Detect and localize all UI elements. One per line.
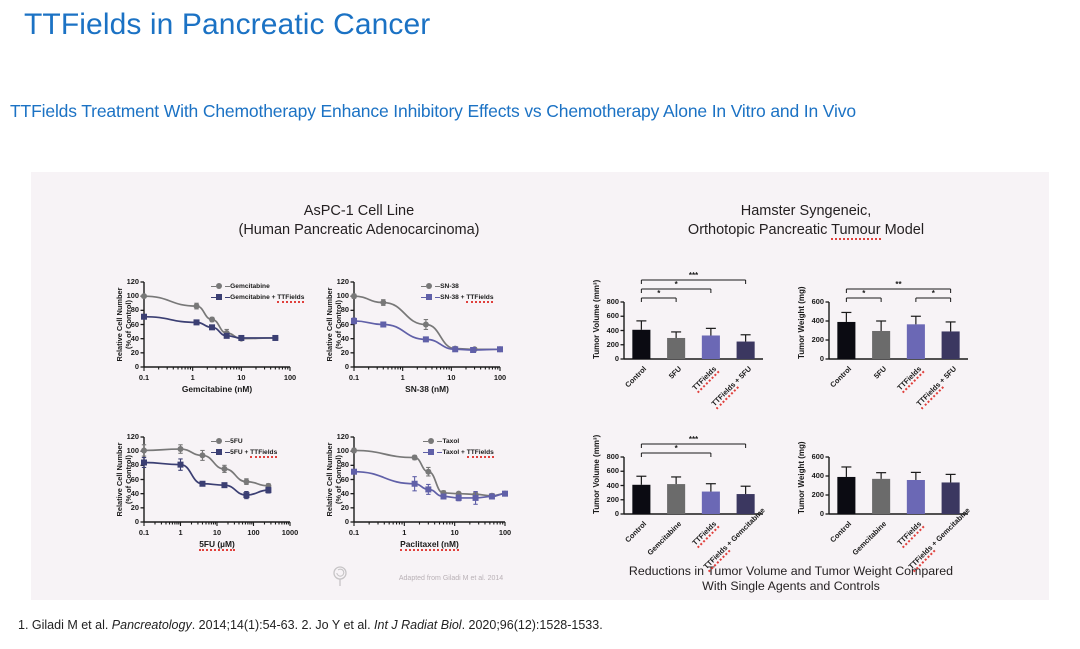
- x-tick-label: 10: [224, 373, 258, 382]
- x-axis-label: Paclitaxel (nM): [354, 539, 505, 549]
- chart-tumor-weight-gemcitabine: 0200400600Tumor Weight (mg)ControlGemcit…: [791, 427, 976, 552]
- slide-subtitle: TTFields Treatment With Chemotherapy Enh…: [10, 101, 856, 122]
- legend-item: Gemcitabine + TTFields: [211, 294, 304, 301]
- left-panel-heading-line1: AsPC-1 Cell Line: [179, 202, 539, 221]
- x-tick-label: 0.1: [337, 373, 371, 382]
- x-tick-label: 100: [273, 373, 307, 382]
- x-tick-label: 100: [483, 373, 517, 382]
- y-axis-label: Relative Cell Number(% of Control): [115, 282, 133, 367]
- x-axis-label-text: 5FU (µM): [199, 539, 235, 551]
- left-panel-heading: AsPC-1 Cell Line (Human Pancreatic Adeno…: [179, 202, 539, 240]
- y-axis-label-line1: Relative Cell Number: [115, 437, 124, 522]
- x-tick-label: 100: [237, 528, 271, 537]
- chart-tumor-weight-5fu: 0200400600****Tumor Weight (mg)Control5F…: [791, 272, 976, 397]
- legend-item: 5FU + TTFields: [211, 449, 277, 456]
- right-panel-heading-line1: Hamster Syngeneic,: [596, 202, 1016, 221]
- y-axis-label: Tumor Volume (mm³): [592, 302, 601, 359]
- references-footer: 1. Giladi M et al. Pancreatology. 2014;1…: [18, 618, 603, 632]
- significance-marker: *: [645, 289, 673, 298]
- chart-5fu-dose-response: 0204060801001200.11101001000Relative Cel…: [106, 427, 296, 552]
- significance-marker: ***: [680, 435, 708, 444]
- legend-square-marker: [216, 294, 222, 300]
- reference-suffix: . 2020;96(12):1528-1533.: [462, 618, 603, 632]
- spellcheck-tumour: Tumour: [831, 222, 880, 240]
- x-tick-label: 1: [164, 528, 198, 537]
- y-axis-label-line2: (% of Control): [334, 282, 343, 367]
- legend-item: SN-38: [421, 283, 459, 290]
- reference-mid: . 2014;14(1):54-63. 2. Jo Y et al.: [192, 618, 374, 632]
- reference-journal-1: Pancreatology: [112, 618, 192, 632]
- x-tick-label: 1: [176, 373, 210, 382]
- significance-marker: *: [662, 444, 690, 453]
- page-title: TTFields in Pancreatic Cancer: [24, 8, 430, 42]
- x-tick-label: 100: [488, 528, 522, 537]
- right-panel-heading: Hamster Syngeneic, Orthotopic Pancreatic…: [596, 202, 1016, 240]
- legend-circle-marker: [426, 283, 432, 289]
- legend-label: Gemcitabine: [230, 283, 270, 290]
- spellcheck-ttfields: TTFields: [466, 294, 493, 303]
- spellcheck-ttfields: TTFields: [467, 449, 494, 458]
- x-axis-label: Gemcitabine (nM): [144, 384, 290, 394]
- legend-item: Gemcitabine: [211, 283, 270, 290]
- x-axis-label-text: Paclitaxel (nM): [400, 539, 459, 551]
- chart-tumor-volume-5fu: 0200400600800*****Tumor Volume (mm³)Cont…: [586, 272, 771, 397]
- spellcheck-ttfields: TTFields: [277, 294, 304, 303]
- y-axis-label-line1: Relative Cell Number: [325, 282, 334, 367]
- x-tick-label: 0.1: [127, 528, 161, 537]
- spellcheck-ttfields: TTFields: [250, 449, 277, 458]
- slide: TTFields in Pancreatic Cancer TTFields T…: [0, 0, 1080, 649]
- left-panel-heading-line2: (Human Pancreatic Adenocarcinoma): [179, 221, 539, 240]
- legend-square-marker: [216, 449, 222, 455]
- significance-marker: **: [885, 280, 913, 289]
- x-tick-label: 10: [200, 528, 234, 537]
- chart-sn38-dose-response: 0204060801001200.1110100Relative Cell Nu…: [316, 272, 506, 397]
- legend-circle-marker: [216, 438, 222, 444]
- x-tick-label: 1000: [273, 528, 307, 537]
- y-axis-label: Relative Cell Number(% of Control): [325, 437, 343, 522]
- chart-taxol-dose-response: 0204060801001200.1110100Relative Cell Nu…: [316, 427, 511, 552]
- x-tick-label: 10: [434, 373, 468, 382]
- significance-marker: *: [662, 280, 690, 289]
- figure-panel: AsPC-1 Cell Line (Human Pancreatic Adeno…: [31, 172, 1049, 600]
- x-tick-label: 0.1: [127, 373, 161, 382]
- legend-label: SN-38: [440, 283, 459, 290]
- y-axis-label-line1: Relative Cell Number: [115, 282, 124, 367]
- reference-journal-2: Int J Radiat Biol: [374, 618, 462, 632]
- legend-square-marker: [426, 294, 432, 300]
- y-axis-label: Relative Cell Number(% of Control): [115, 437, 133, 522]
- significance-marker: *: [850, 289, 878, 298]
- y-axis-label-line2: (% of Control): [124, 282, 133, 367]
- legend-item: Taxol: [423, 438, 459, 445]
- chart-gemcitabine-dose-response: 0204060801001200.1110100Relative Cell Nu…: [106, 272, 296, 397]
- y-axis-label-line1: Relative Cell Number: [325, 437, 334, 522]
- y-axis-label: Tumor Weight (mg): [797, 457, 806, 514]
- legend-item: SN-38 + TTFields: [421, 294, 493, 301]
- reference-prefix: 1. Giladi M et al.: [18, 618, 112, 632]
- legend-item: 5FU: [211, 438, 242, 445]
- x-tick-label: 0.1: [337, 528, 371, 537]
- y-axis-label-line2: (% of Control): [124, 437, 133, 522]
- significance-marker: *: [919, 289, 947, 298]
- x-axis-label: SN-38 (nM): [354, 384, 500, 394]
- x-tick-label: 1: [387, 528, 421, 537]
- x-tick-label: 10: [438, 528, 472, 537]
- legend-circle-marker: [428, 438, 434, 444]
- significance-marker: ***: [680, 271, 708, 280]
- x-axis-label: 5FU (µM): [144, 539, 290, 549]
- adapted-from-note: Adapted from Giladi M et al. 2014: [331, 575, 571, 582]
- legend-label: Taxol: [442, 438, 459, 445]
- legend-label: 5FU: [230, 438, 242, 445]
- y-axis-label-line2: (% of Control): [334, 437, 343, 522]
- x-tick-label: 1: [386, 373, 420, 382]
- legend-item: Taxol + TTFields: [423, 449, 493, 456]
- y-axis-label: Tumor Volume (mm³): [592, 457, 601, 514]
- legend-circle-marker: [216, 283, 222, 289]
- bottom-caption-line2: With Single Agents and Controls: [571, 579, 1011, 594]
- right-panel-heading-line2: Orthotopic Pancreatic Tumour Model: [596, 221, 1016, 240]
- right-heading-part-a: Orthotopic Pancreatic: [688, 222, 831, 238]
- right-heading-part-b: Model: [881, 222, 925, 238]
- y-axis-label: Tumor Weight (mg): [797, 302, 806, 359]
- legend-square-marker: [428, 449, 434, 455]
- y-axis-label: Relative Cell Number(% of Control): [325, 282, 343, 367]
- chart-tumor-volume-gemcitabine: 0200400600800****Tumor Volume (mm³)Contr…: [586, 427, 771, 552]
